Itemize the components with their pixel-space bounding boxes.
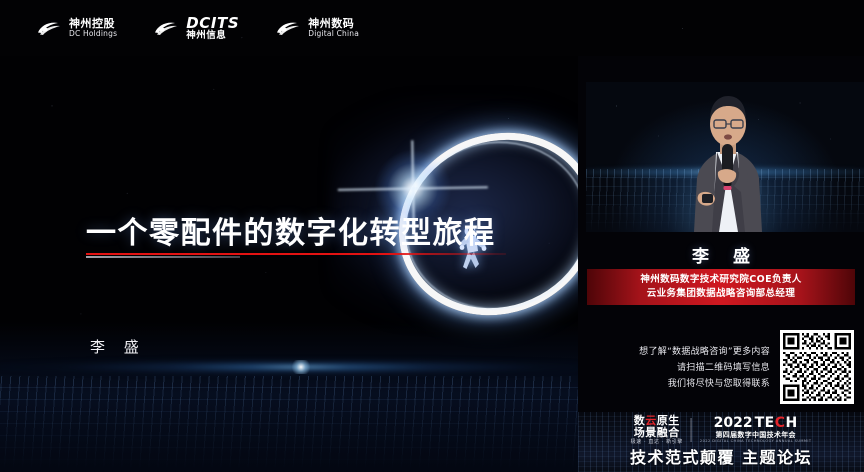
slide-presenter-name: 李 盛 <box>90 336 146 357</box>
presentation-slide: 一个零配件的数字化转型旅程 李 盛 <box>0 56 578 472</box>
event-slogan-line-2: 场景融合 <box>634 427 680 439</box>
qr-instruction-text: 想了解“数据战略咨询”更多内容 请扫描二维码填写信息 我们将尽快与您取得联系 <box>639 344 770 391</box>
speaker-panel: 李 盛 神州数码数字技术研究院COE负责人 云业务集团数据战略咨询部总经理 想了… <box>578 56 864 472</box>
event-branding-band: 数云原生 场景融合 极速 · 直达 · 新引擎 2022 TECH 第四届数字中… <box>578 412 864 472</box>
screen-capture: 神州控股 DC Holdings DCITS 神州信息 神州数码 <box>0 0 864 472</box>
horizon-star-burst <box>290 360 312 374</box>
qr-code-image <box>783 333 851 401</box>
logo-digital-china-en: Digital China <box>308 30 359 38</box>
horizon-light-streak <box>0 358 578 376</box>
qr-line-3: 我们将尽快与您取得联系 <box>668 376 770 389</box>
sponsor-logo-bar: 神州控股 DC Holdings DCITS 神州信息 神州数码 <box>0 0 864 56</box>
dc-swoosh-icon <box>36 19 62 37</box>
title-underline-red <box>86 253 506 255</box>
dc-swoosh-icon <box>153 19 179 37</box>
qr-code[interactable] <box>780 330 854 404</box>
qr-line-2: 请扫描二维码填写信息 <box>677 360 770 373</box>
dc-swoosh-icon <box>275 19 301 37</box>
event-year-tech: 2022 TECH <box>714 416 798 431</box>
event-logo-slogan: 数云原生 场景融合 极速 · 直达 · 新引擎 <box>631 415 683 446</box>
digital-grid-floor <box>0 376 578 472</box>
logo-dcits-cn: 神州信息 <box>186 31 239 41</box>
speaker-role-banner: 神州数码数字技术研究院COE负责人 云业务集团数据战略咨询部总经理 <box>587 269 855 305</box>
slide-ground-plane <box>0 322 578 472</box>
speaker-role-line-2: 云业务集团数据战略咨询部总经理 <box>647 288 796 300</box>
event-logo-divider <box>691 418 692 442</box>
logo-digital-china: 神州数码 Digital China <box>275 18 359 37</box>
logo-dcits: DCITS 神州信息 <box>153 16 239 41</box>
event-logo-title: 2022 TECH 第四届数字中国技术年会 2022 DIGITAL CHINA… <box>700 416 812 444</box>
qr-contact-block: 想了解“数据战略咨询”更多内容 请扫描二维码填写信息 我们将尽快与您取得联系 <box>588 324 854 410</box>
qr-line-1: 想了解“数据战略咨询”更多内容 <box>639 344 770 357</box>
event-logo: 数云原生 场景融合 极速 · 直达 · 新引擎 2022 TECH 第四届数字中… <box>631 415 812 446</box>
forum-title: 技术范式颠覆 主题论坛 <box>578 444 864 468</box>
speaker-name: 李 盛 <box>578 242 864 267</box>
logo-dc-holdings-en: DC Holdings <box>69 30 117 38</box>
logo-dcits-brand: DCITS <box>186 16 239 31</box>
slide-title: 一个零配件的数字化转型旅程 <box>86 208 496 252</box>
speaker-person-figure <box>586 82 864 232</box>
title-underline-grey <box>86 256 240 258</box>
event-cn-name: 第四届数字中国技术年会 <box>716 432 796 439</box>
speaker-video-feed[interactable] <box>586 82 864 232</box>
event-year: 2022 <box>714 416 753 431</box>
logo-dc-holdings: 神州控股 DC Holdings <box>36 18 117 37</box>
event-tech-wordmark: TECH <box>755 416 798 431</box>
speaker-role-line-1: 神州数码数字技术研究院COE负责人 <box>640 274 801 286</box>
